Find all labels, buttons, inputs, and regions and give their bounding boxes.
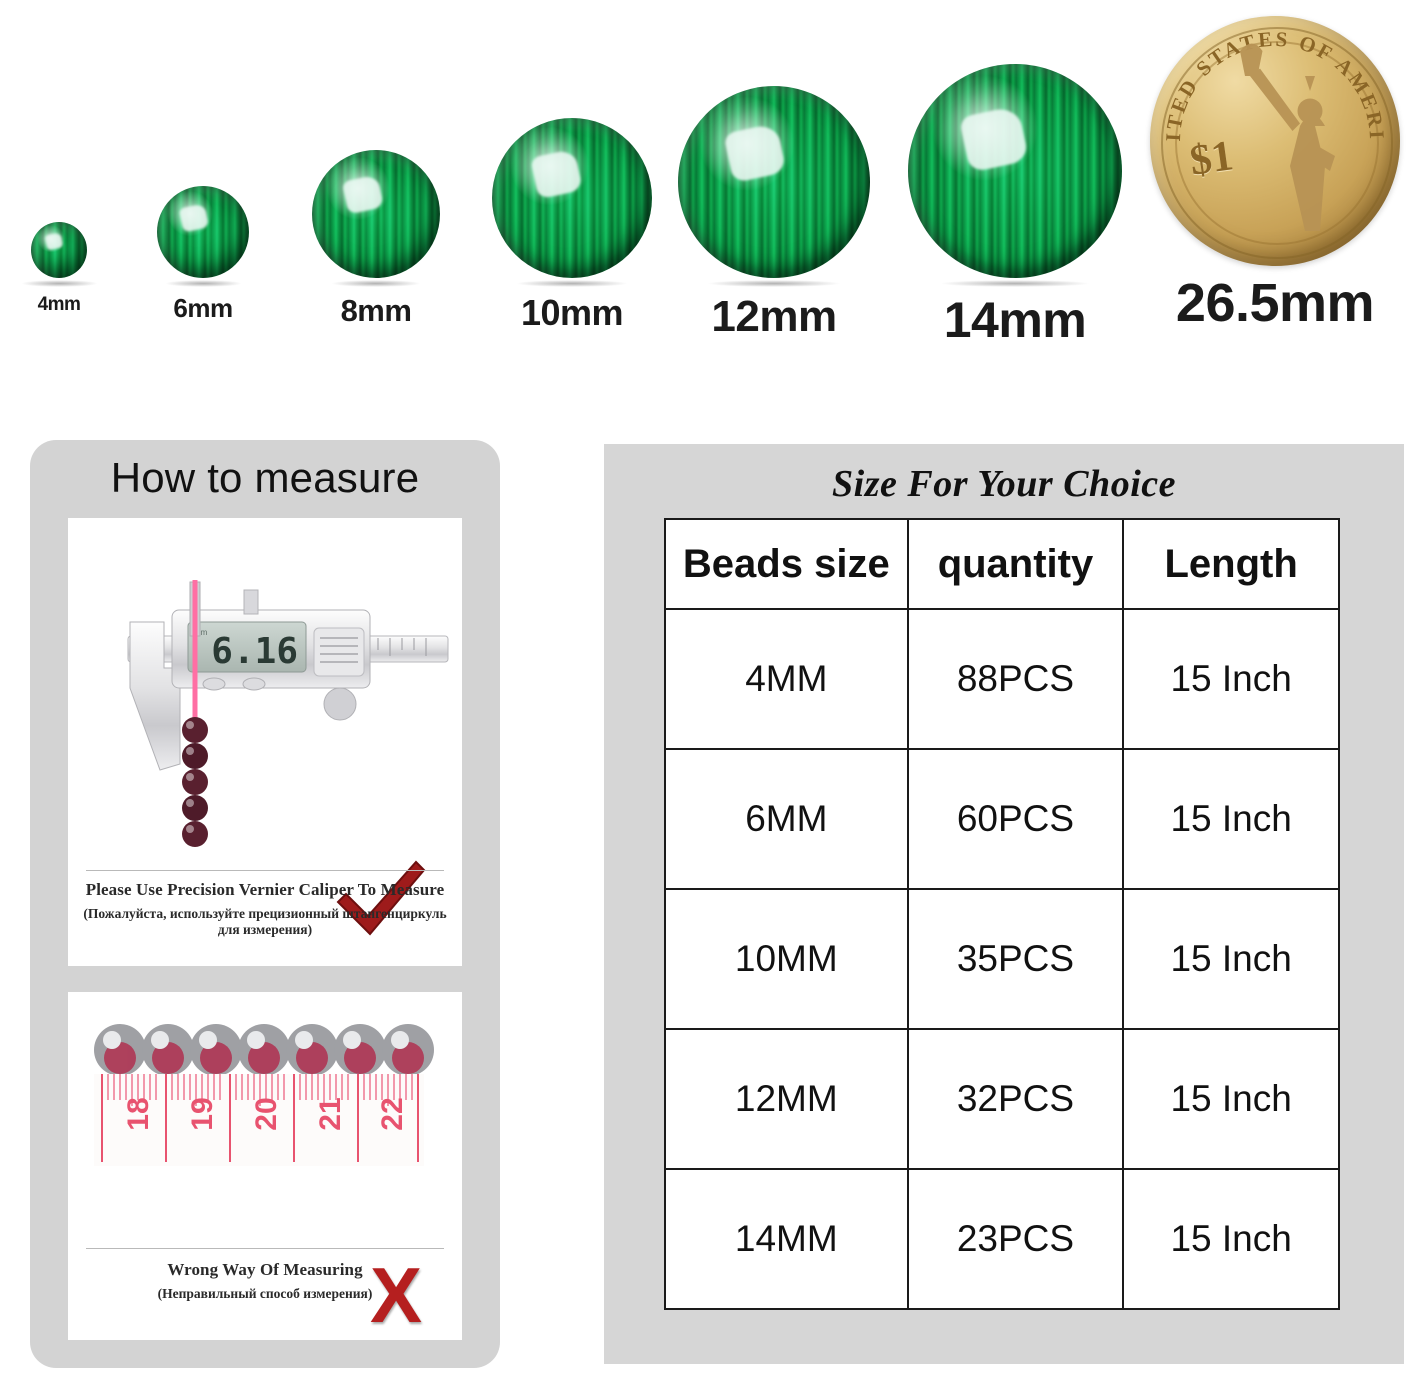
bead-strand — [182, 717, 208, 847]
malachite-bead-icon — [312, 150, 440, 278]
coin-size-label: 26.5mm — [1176, 276, 1374, 330]
bead-sample-4mm: 4mm — [4, 222, 114, 314]
cell-length: 15 Inch — [1123, 749, 1339, 889]
table-row: 14MM23PCS15 Inch — [665, 1169, 1339, 1309]
svg-text:UNITED STATES OF AMERICA: UNITED STATES OF AMERICA — [1150, 16, 1389, 142]
bead-size-label: 4mm — [38, 295, 81, 314]
wrong-caption-ru: (Неправильный способ измерения) — [82, 1286, 448, 1302]
malachite-bead-icon — [908, 64, 1122, 278]
bead-shadow — [516, 280, 628, 287]
size-table-title: Size For Your Choice — [604, 462, 1404, 506]
cell-quantity: 32PCS — [908, 1029, 1124, 1169]
column-header-beads-size: Beads size — [665, 519, 908, 609]
vernier-caliper-icon: 6.16 mm — [68, 518, 462, 848]
coin-sample: UNITED STATES OF AMERICA$126.5mm — [1150, 16, 1400, 330]
cell-length: 15 Inch — [1123, 609, 1339, 749]
wrong-caption-en: Wrong Way Of Measuring — [82, 1260, 448, 1280]
statue-of-liberty-icon — [1240, 44, 1348, 232]
bead-size-comparison-strip: 4mm6mm8mm10mm12mm14mmUNITED STATES OF AM… — [0, 0, 1414, 420]
cell-quantity: 23PCS — [908, 1169, 1124, 1309]
bead-shadow — [331, 280, 421, 287]
bead-size-label: 12mm — [711, 295, 836, 339]
table-row: 12MM32PCS15 Inch — [665, 1029, 1339, 1169]
table-row: 4MM88PCS15 Inch — [665, 609, 1339, 749]
size-table: Beads size quantity Length 4MM88PCS15 In… — [664, 518, 1340, 1310]
cell-quantity: 60PCS — [908, 749, 1124, 889]
bead-size-label: 8mm — [341, 295, 412, 326]
cell-beads-size: 6MM — [665, 749, 908, 889]
tape-tick-19: 19 — [186, 1097, 219, 1130]
tape-tick-21: 21 — [314, 1097, 347, 1130]
malachite-bead-icon — [157, 186, 249, 278]
caliper-photo: 6.16 mm — [68, 518, 462, 848]
table-row: 6MM60PCS15 Inch — [665, 749, 1339, 889]
dollar-coin-icon: UNITED STATES OF AMERICA$1 — [1150, 16, 1400, 266]
card-divider — [86, 1248, 444, 1249]
how-to-measure-panel: How to measure — [30, 440, 500, 1368]
bead-sample-14mm: 14mm — [908, 64, 1122, 345]
silver-bead-row — [94, 1024, 434, 1076]
bead-size-label: 10mm — [521, 295, 623, 331]
table-header-row: Beads size quantity Length — [665, 519, 1339, 609]
cell-beads-size: 10MM — [665, 889, 908, 1029]
table-row: 10MM35PCS15 Inch — [665, 889, 1339, 1029]
cell-length: 15 Inch — [1123, 1029, 1339, 1169]
cell-quantity: 35PCS — [908, 889, 1124, 1029]
column-header-quantity: quantity — [908, 519, 1124, 609]
tape-tick-22: 22 — [376, 1097, 409, 1130]
tape-tick-18: 18 — [122, 1097, 155, 1130]
correct-measure-card: 6.16 mm — [68, 518, 462, 966]
malachite-bead-icon — [492, 118, 652, 278]
malachite-bead-icon — [678, 86, 870, 278]
correct-caption-en: Please Use Precision Vernier Caliper To … — [82, 880, 448, 900]
tape-tick-20: 20 — [250, 1097, 283, 1130]
tape-measure-icon: 18 19 20 21 22 — [68, 1002, 462, 1202]
malachite-bead-icon — [31, 222, 87, 278]
bead-sample-8mm: 8mm — [312, 150, 440, 326]
cell-length: 15 Inch — [1123, 1169, 1339, 1309]
bead-shadow — [940, 280, 1090, 287]
wrong-measure-card: 18 19 20 21 22 X Wrong Way Of Measuring … — [68, 992, 462, 1340]
coin-denomination: $1 — [1187, 131, 1236, 186]
column-header-length: Length — [1123, 519, 1339, 609]
cell-beads-size: 14MM — [665, 1169, 908, 1309]
bead-shadow — [165, 280, 242, 287]
bead-sample-12mm: 12mm — [678, 86, 870, 339]
cell-quantity: 88PCS — [908, 609, 1124, 749]
cell-beads-size: 4MM — [665, 609, 908, 749]
bead-size-label: 6mm — [173, 295, 232, 321]
bead-sample-10mm: 10mm — [492, 118, 652, 331]
how-to-measure-title: How to measure — [30, 454, 500, 502]
bead-shadow — [707, 280, 841, 287]
caliper-display-value: 6.16 — [211, 631, 298, 672]
card-divider — [86, 870, 444, 871]
cell-length: 15 Inch — [1123, 889, 1339, 1029]
bead-shadow — [21, 280, 98, 287]
size-table-panel: Size For Your Choice Beads size quantity… — [604, 444, 1404, 1364]
cell-beads-size: 12MM — [665, 1029, 908, 1169]
correct-caption-ru: (Пожалуйста, используйте прецизионный шт… — [82, 906, 448, 938]
bead-sample-6mm: 6mm — [148, 186, 258, 321]
bead-size-label: 14mm — [944, 295, 1087, 345]
